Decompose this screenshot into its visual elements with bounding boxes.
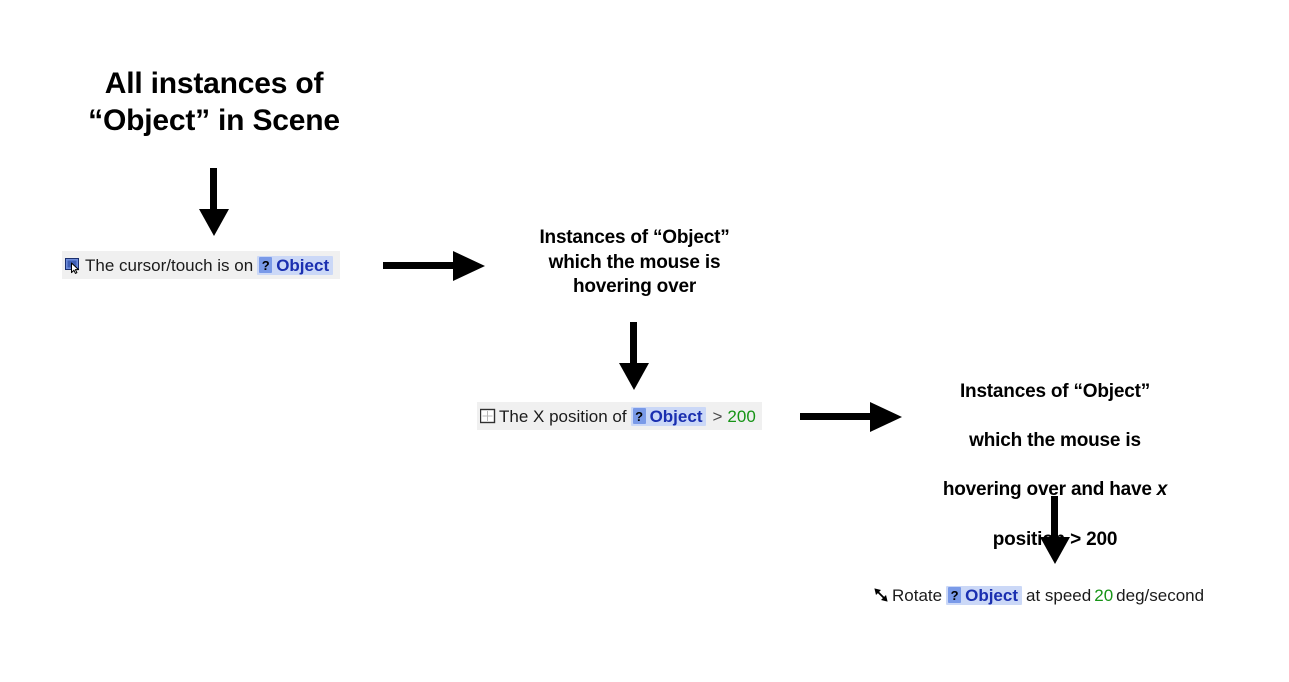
arrow-down-title-to-condition1 <box>198 168 230 236</box>
condition-text-before: The X position of <box>498 408 628 425</box>
block-action-rotate[interactable]: Rotate ? Object at speed 20 deg/second <box>870 581 1209 609</box>
caption-line-1: Instances of “Object” <box>960 381 1150 402</box>
action-text-after: deg/second <box>1115 587 1205 604</box>
comparison-operator: > <box>709 408 725 425</box>
arrow-down-caption-to-condition2 <box>618 322 650 390</box>
diagram-canvas: All instances of “Object” in Scene The c… <box>0 0 1289 682</box>
arrow-right-condition1-to-caption <box>383 250 489 282</box>
position-grid-icon <box>480 408 496 424</box>
object-chip-label: Object <box>650 408 703 425</box>
arrow-down-caption-to-action <box>1039 496 1071 564</box>
caption-hovered-instances: Instances of “Object” which the mouse is… <box>513 226 756 300</box>
block-condition-x-position[interactable]: The X position of ? Object > 200 <box>477 402 762 430</box>
caption-line-3-italic-x: x <box>1157 479 1167 500</box>
rotate-diagonal-icon <box>873 587 889 603</box>
object-marker-icon: ? <box>259 257 272 273</box>
object-chip[interactable]: ? Object <box>257 256 333 275</box>
object-chip-label: Object <box>965 587 1018 604</box>
object-chip[interactable]: ? Object <box>946 586 1022 605</box>
comparison-value[interactable]: 200 <box>725 408 757 425</box>
action-text-mid: at speed <box>1025 587 1092 604</box>
title-all-instances: All instances of “Object” in Scene <box>54 66 374 139</box>
caption-line-2: which the mouse is <box>969 430 1141 451</box>
object-chip[interactable]: ? Object <box>631 407 707 426</box>
object-chip-label: Object <box>276 257 329 274</box>
object-marker-icon: ? <box>633 408 646 424</box>
arrow-right-condition2-to-caption <box>800 401 906 433</box>
cursor-on-object-icon <box>65 257 82 274</box>
action-speed-value[interactable]: 20 <box>1092 587 1115 604</box>
block-condition-cursor-on-object[interactable]: The cursor/touch is on ? Object <box>62 251 340 279</box>
condition-text-before: The cursor/touch is on <box>84 257 254 274</box>
object-marker-icon: ? <box>948 587 961 603</box>
action-text-before: Rotate <box>891 587 943 604</box>
